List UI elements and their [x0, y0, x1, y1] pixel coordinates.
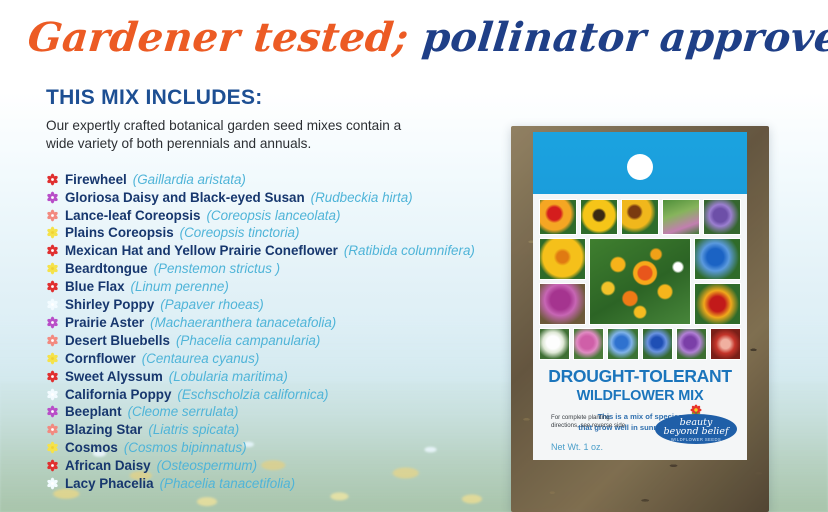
gaillardia-photo — [694, 283, 741, 325]
species-list-item: California Poppy(Eschscholzia californic… — [46, 386, 516, 401]
headline-navy-text: pollinator approved since 1985! — [420, 14, 828, 61]
flower-icon-white — [46, 477, 59, 490]
sunflower-photo — [539, 238, 586, 280]
species-list-item: Mexican Hat and Yellow Prairie Coneflowe… — [46, 242, 516, 257]
headline: Gardener tested; pollinator approved sin… — [26, 14, 821, 61]
species-latin-name: (Centaurea cyanus) — [142, 352, 260, 365]
species-common-name: Firewheel — [65, 173, 127, 186]
penstemon-photo — [662, 199, 700, 235]
flower-icon-salmon — [46, 423, 59, 436]
beeplant-photo — [539, 283, 586, 325]
species-list-item: African Daisy(Osteospermum) — [46, 457, 516, 472]
species-common-name: Sweet Alyssum — [65, 370, 163, 383]
pink-aster-photo — [573, 328, 604, 360]
species-common-name: African Daisy — [65, 459, 151, 472]
flower-icon-red — [46, 173, 59, 186]
blue-flax-photo — [694, 238, 741, 280]
species-list-item: Shirley Poppy(Papaver rhoeas) — [46, 296, 516, 311]
species-common-name: California Poppy — [65, 388, 171, 401]
species-list-item: Prairie Aster(Machaeranthera tanacetafol… — [46, 314, 516, 329]
species-latin-name: (Liatris spicata) — [148, 423, 239, 436]
collage-row-bottom — [539, 328, 741, 360]
california-poppy-field-photo — [589, 238, 691, 325]
species-latin-name: (Ratibida columnifera) — [344, 244, 475, 257]
species-list-item: Lacy Phacelia(Phacelia tanacetifolia) — [46, 475, 516, 490]
species-list-item: Firewheel(Gaillardia aristata) — [46, 171, 516, 186]
collage-left-column — [539, 238, 586, 325]
brand-logo: beauty beyond belief WILDFLOWER SEEDS — [655, 404, 737, 444]
species-latin-name: (Eschscholzia californica) — [177, 388, 328, 401]
flower-icon-red — [46, 244, 59, 257]
packet-title: DROUGHT-TOLERANT — [533, 366, 747, 387]
species-common-name: Cornflower — [65, 352, 136, 365]
flower-icon-yellow — [46, 352, 59, 365]
species-list-item: Beeplant(Cleome serrulata) — [46, 403, 516, 418]
mexican-hat-photo — [621, 199, 659, 235]
species-common-name: Blue Flax — [65, 280, 125, 293]
flower-icon-white — [46, 388, 59, 401]
poster-canvas: Gardener tested; pollinator approved sin… — [0, 0, 828, 512]
species-list-item: Blue Flax(Linum perenne) — [46, 278, 516, 293]
species-common-name: Blazing Star — [65, 423, 142, 436]
seed-packet: DROUGHT-TOLERANT WILDFLOWER MIX This is … — [511, 126, 769, 512]
species-common-name: Beardtongue — [65, 262, 148, 275]
species-latin-name: (Rudbeckia hirta) — [311, 191, 413, 204]
flower-icon-salmon — [46, 209, 59, 222]
species-list-item: Cornflower(Centaurea cyanus) — [46, 350, 516, 365]
bluebells-photo — [607, 328, 638, 360]
species-latin-name: (Cleome serrulata) — [128, 405, 239, 418]
species-latin-name: (Gaillardia aristata) — [133, 173, 246, 186]
species-list-item: Blazing Star(Liatris spicata) — [46, 421, 516, 436]
flower-icon-yellow — [46, 262, 59, 275]
black-eyed-susan-photo — [580, 199, 618, 235]
species-list-item: Plains Coreopsis(Coreopsis tinctoria) — [46, 224, 516, 239]
species-list-item: Desert Bluebells(Phacelia campanularia) — [46, 332, 516, 347]
purple-aster-photo — [676, 328, 707, 360]
rose-poppy-photo — [710, 328, 741, 360]
species-latin-name: (Coreopsis tinctoria) — [180, 226, 300, 239]
flower-icon-red — [46, 370, 59, 383]
species-list-item: Gloriosa Daisy and Black-eyed Susan(Rudb… — [46, 189, 516, 204]
headline-orange-text: Gardener tested; — [26, 14, 411, 61]
species-latin-name: (Papaver rhoeas) — [160, 298, 263, 311]
packet-label: DROUGHT-TOLERANT WILDFLOWER MIX This is … — [533, 132, 747, 460]
species-latin-name: (Cosmos bipinnatus) — [124, 441, 247, 454]
section-title: THIS MIX INCLUDES: — [46, 86, 516, 110]
flower-icon-red — [46, 280, 59, 293]
species-common-name: Gloriosa Daisy and Black-eyed Susan — [65, 191, 305, 204]
alyssum-photo — [539, 328, 570, 360]
directions-line-2: directions, see reverse side. — [551, 422, 663, 431]
species-list-item: Lance-leaf Coreopsis(Coreopsis lanceolat… — [46, 207, 516, 222]
species-latin-name: (Osteospermum) — [157, 459, 257, 472]
logo-line-3: WILDFLOWER SEEDS — [655, 437, 737, 442]
packet-header-band — [533, 132, 747, 194]
collage-row-middle — [539, 238, 741, 325]
species-latin-name: (Phacelia tanacetifolia) — [160, 477, 295, 490]
directions-line-1: For complete planting — [551, 414, 663, 423]
species-latin-name: (Phacelia campanularia) — [176, 334, 320, 347]
flower-icon-white — [46, 298, 59, 311]
flower-icon-red — [46, 459, 59, 472]
collage-row-top — [539, 199, 741, 235]
hang-hole — [627, 154, 653, 180]
flower-icon-salmon — [46, 334, 59, 347]
prairie-aster-photo — [703, 199, 741, 235]
species-common-name: Shirley Poppy — [65, 298, 154, 311]
species-latin-name: (Penstemon strictus ) — [154, 262, 281, 275]
species-list-item: Beardtongue(Penstemon strictus ) — [46, 260, 516, 275]
packet-subtitle: WILDFLOWER MIX — [533, 388, 747, 404]
photo-collage — [539, 199, 741, 360]
flower-icon-magenta — [46, 316, 59, 329]
species-list-item: Sweet Alyssum(Lobularia maritima) — [46, 368, 516, 383]
logo-line-2: beyond belief — [655, 426, 737, 437]
intro-paragraph: Our expertly crafted botanical garden se… — [46, 117, 426, 154]
logo-oval: beauty beyond belief WILDFLOWER SEEDS — [655, 414, 737, 444]
cornflower-photo — [642, 328, 673, 360]
flower-icon-yellow — [46, 441, 59, 454]
mix-contents-panel: THIS MIX INCLUDES: Our expertly crafted … — [46, 86, 516, 493]
planting-directions-note: For complete planting directions, see re… — [551, 414, 663, 431]
flower-icon-yellow — [46, 226, 59, 239]
firewheel-photo — [539, 199, 577, 235]
flower-icon-magenta — [46, 405, 59, 418]
packet-footer: For complete planting directions, see re… — [543, 414, 739, 452]
species-common-name: Lacy Phacelia — [65, 477, 154, 490]
species-common-name: Plains Coreopsis — [65, 226, 174, 239]
collage-right-column — [694, 238, 741, 325]
species-common-name: Prairie Aster — [65, 316, 144, 329]
species-list: Firewheel(Gaillardia aristata)Gloriosa D… — [46, 171, 516, 491]
species-common-name: Desert Bluebells — [65, 334, 170, 347]
flower-icon-magenta — [46, 191, 59, 204]
species-list-item: Cosmos(Cosmos bipinnatus) — [46, 439, 516, 454]
species-common-name: Beeplant — [65, 405, 122, 418]
species-latin-name: (Lobularia maritima) — [169, 370, 288, 383]
species-latin-name: (Linum perenne) — [131, 280, 229, 293]
species-latin-name: (Machaeranthera tanacetafolia) — [150, 316, 336, 329]
species-latin-name: (Coreopsis lanceolata) — [206, 209, 340, 222]
species-common-name: Mexican Hat and Yellow Prairie Coneflowe… — [65, 244, 338, 257]
species-common-name: Cosmos — [65, 441, 118, 454]
species-common-name: Lance-leaf Coreopsis — [65, 209, 200, 222]
